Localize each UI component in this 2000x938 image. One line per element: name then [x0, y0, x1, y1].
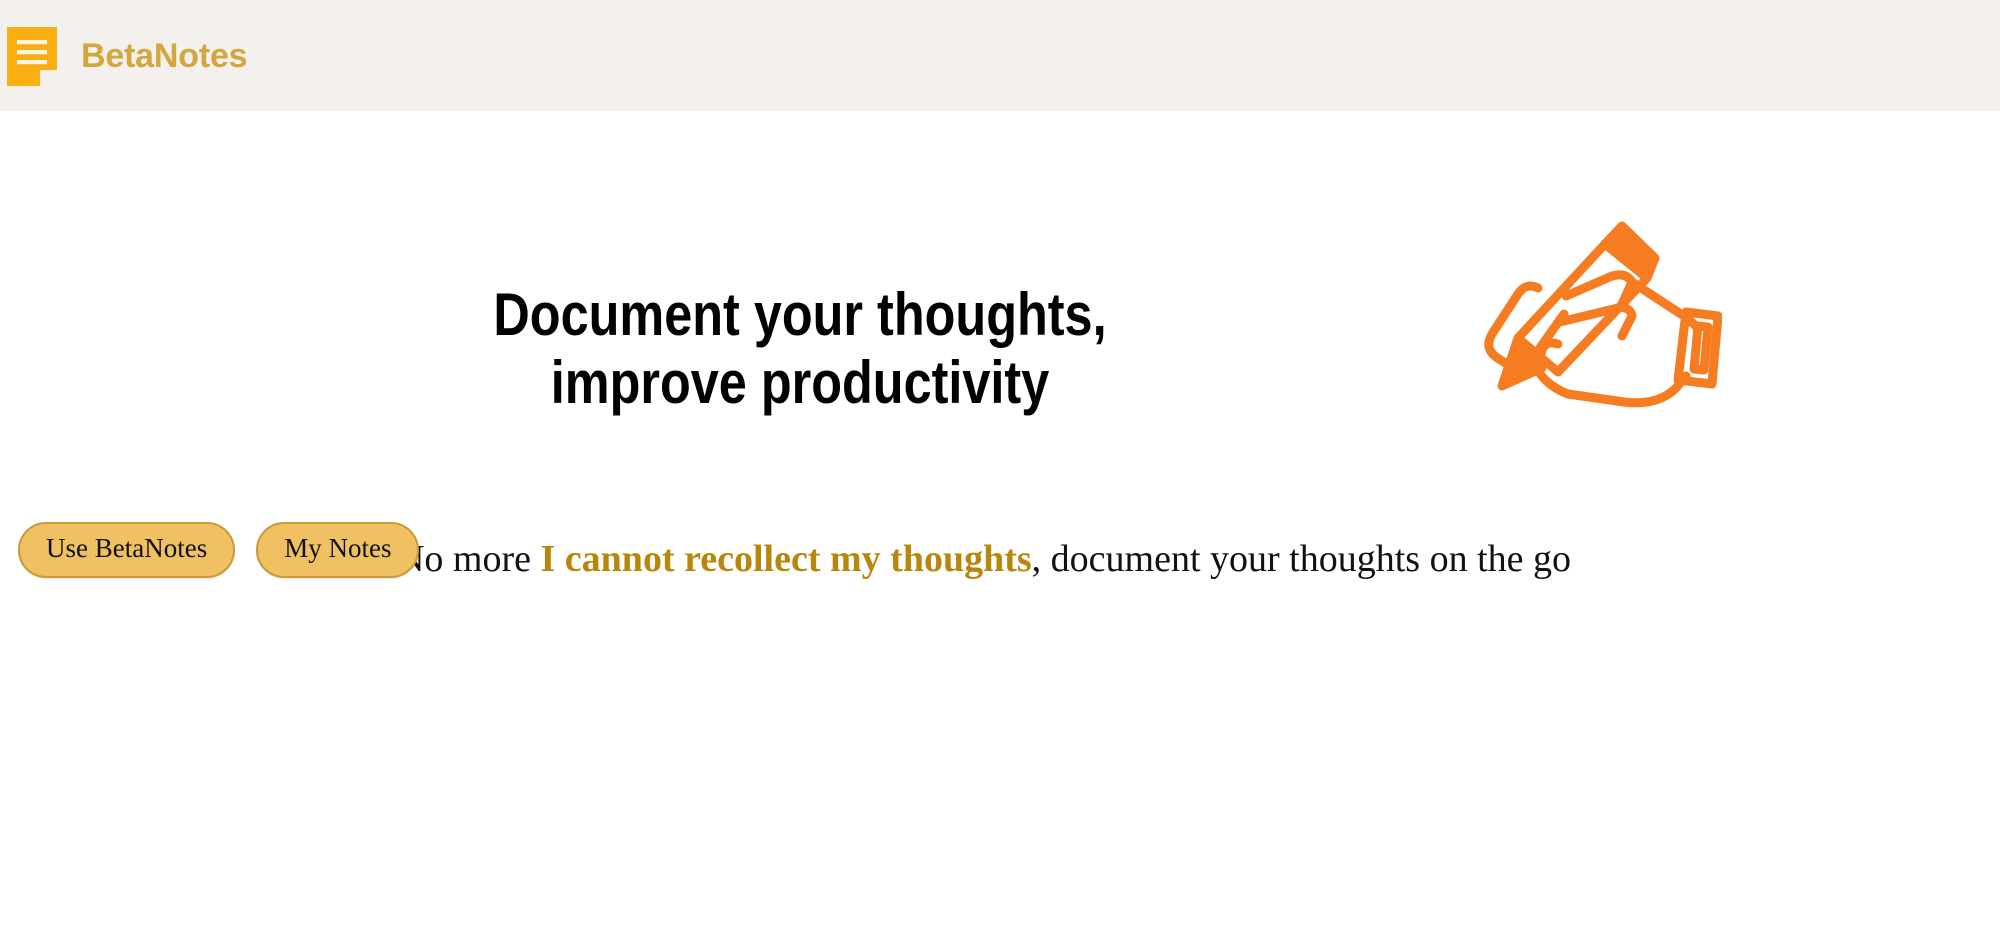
page-title: Document your thoughts, improve producti…	[456, 281, 1145, 417]
app-header: BetaNotes	[0, 0, 2000, 111]
use-betanotes-button[interactable]: Use BetaNotes	[18, 522, 235, 578]
brand[interactable]: BetaNotes	[0, 0, 247, 111]
subtitle-accent: I cannot recollect my thoughts	[541, 538, 1032, 580]
hero-actions: Use BetaNotes My Notes	[18, 522, 419, 578]
note-lines-icon[interactable]	[5, 25, 59, 88]
my-notes-button[interactable]: My Notes	[256, 522, 419, 578]
main-content: Document your thoughts, improve producti…	[0, 111, 2000, 938]
hand-holding-pencil-icon	[1472, 216, 1722, 416]
subtitle-tail: , document your thoughts on the go	[1032, 538, 1571, 580]
hero-subtitle: No more I cannot recollect my thoughts, …	[384, 537, 1584, 583]
hero-section: Document your thoughts, improve producti…	[0, 111, 2000, 938]
brand-name: BetaNotes	[81, 39, 247, 73]
